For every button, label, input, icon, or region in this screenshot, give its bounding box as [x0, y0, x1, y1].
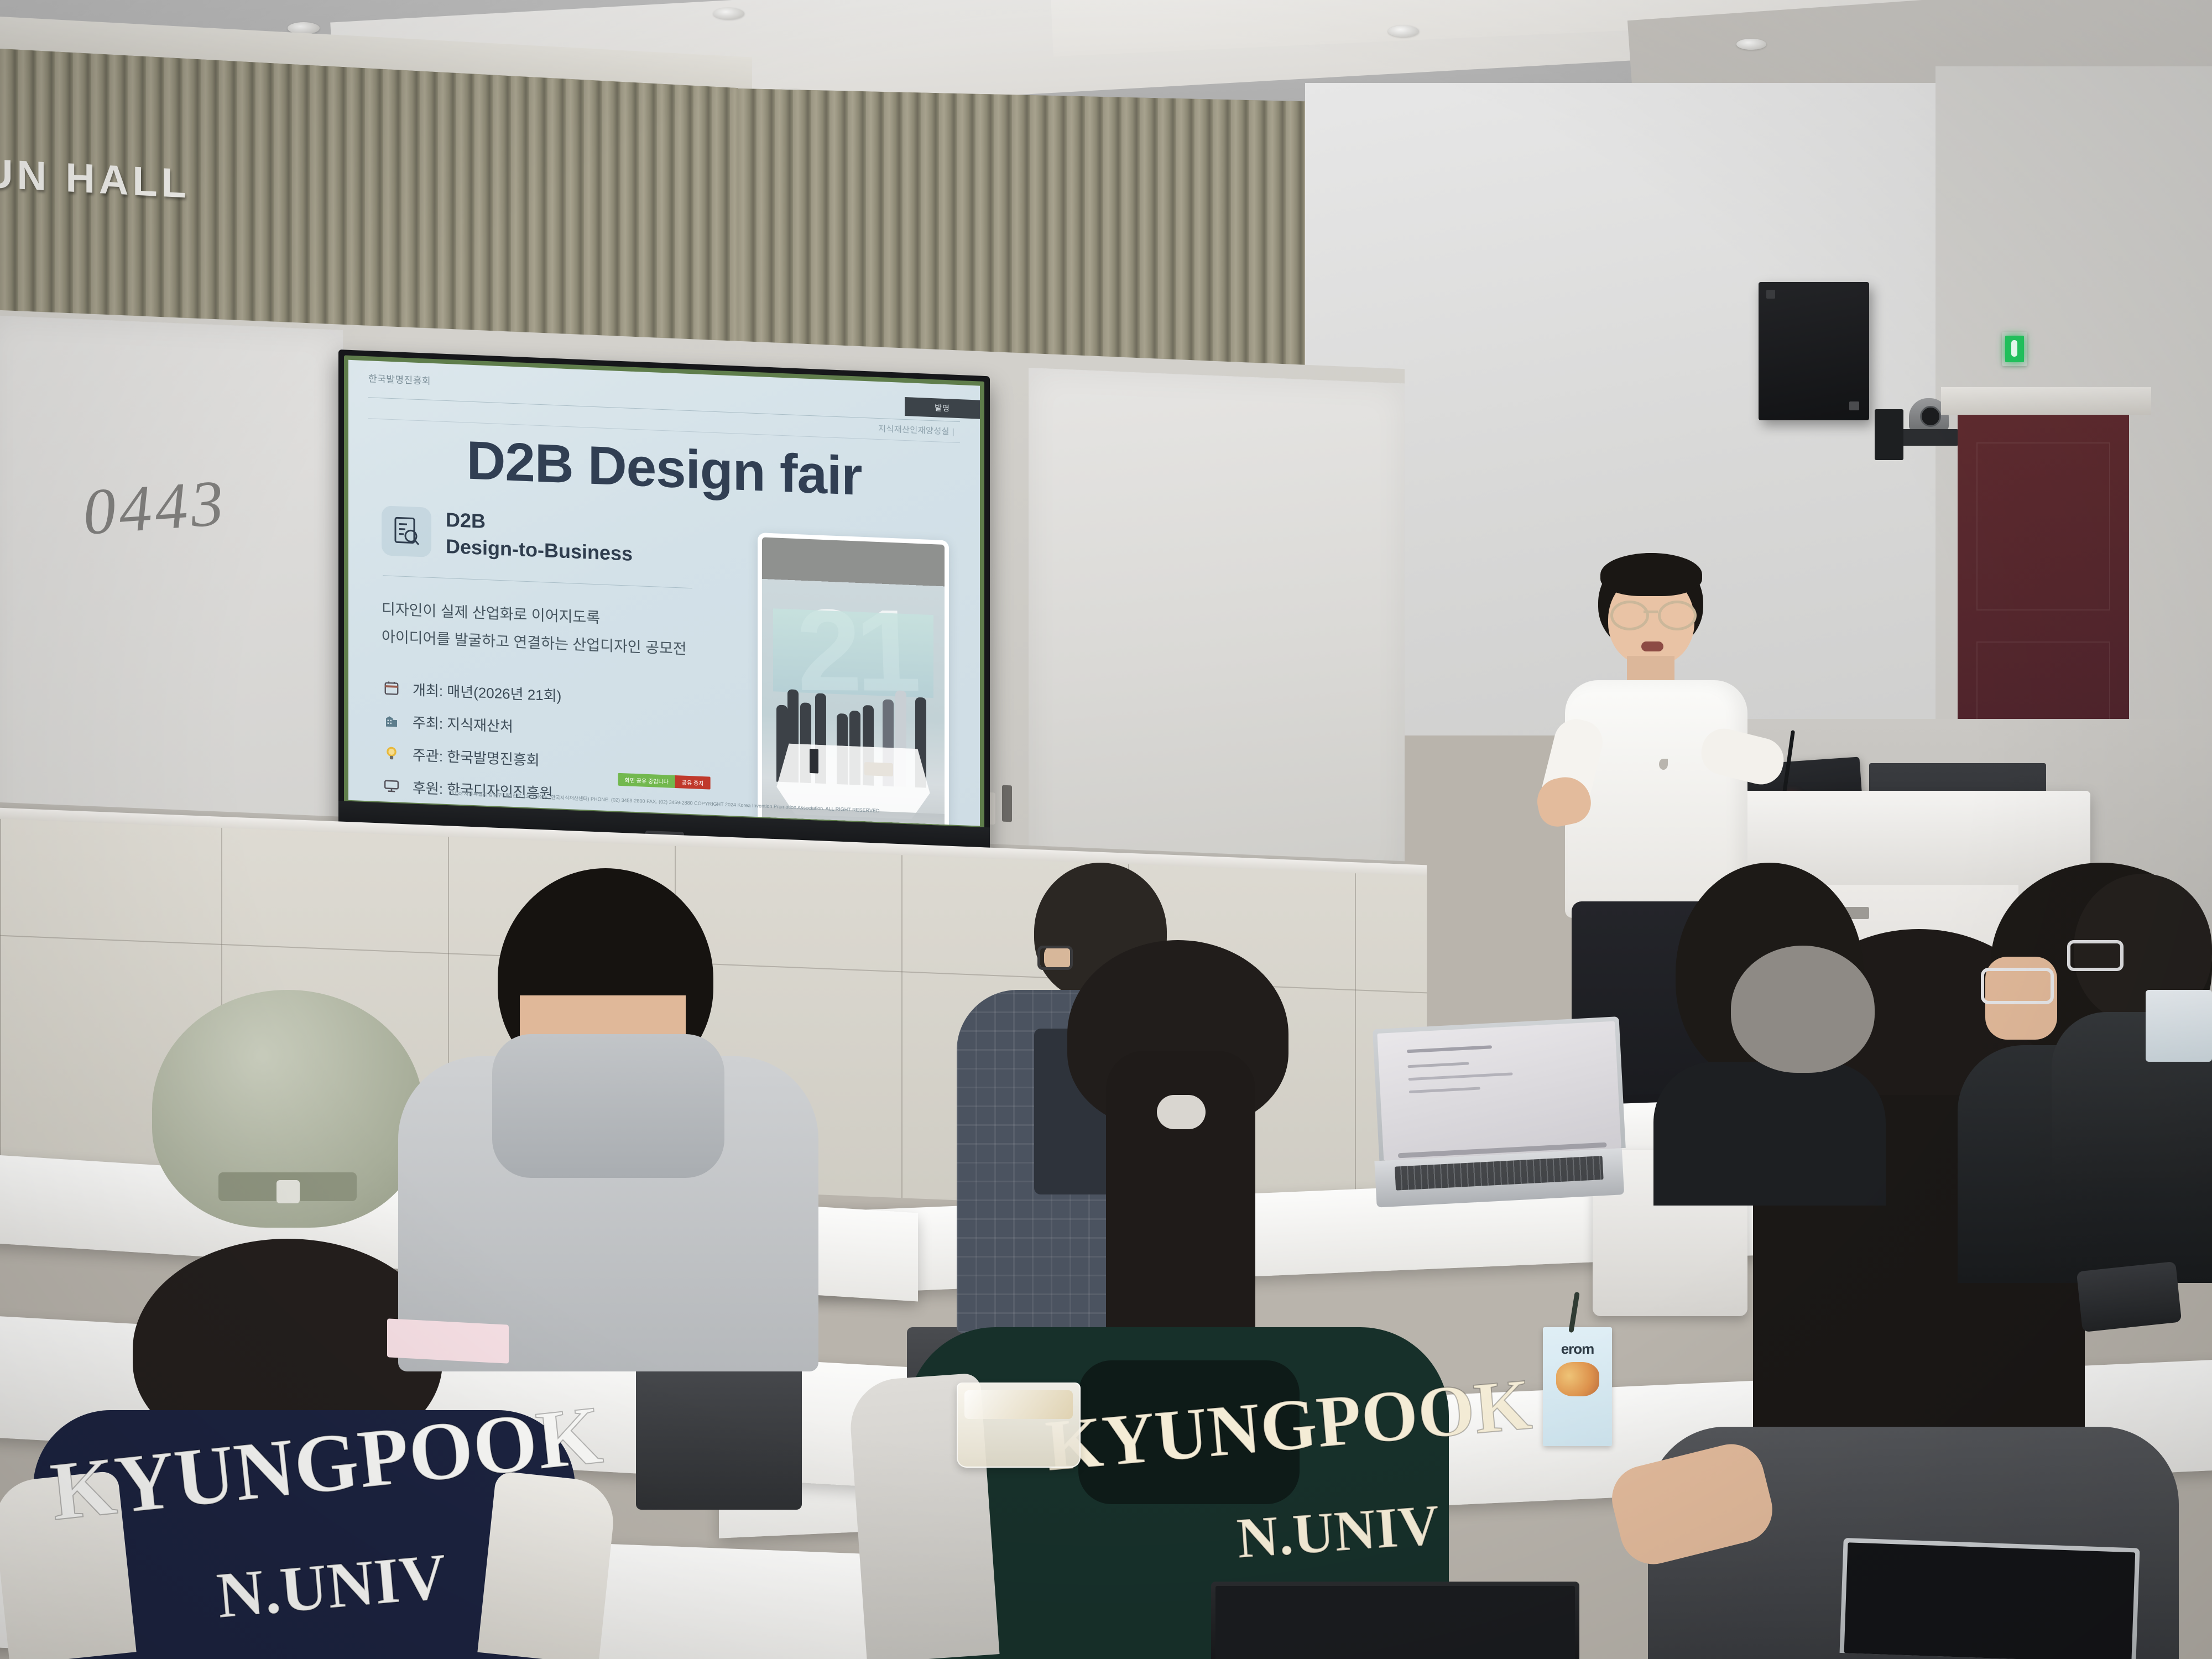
cap-buckle [276, 1180, 300, 1203]
slide-bullet-text: 주관: 한국발명진흥회 [413, 744, 540, 769]
slide-bullet-item: 주관: 한국발명진흥회 [382, 743, 713, 777]
marker-pen[interactable] [1002, 785, 1012, 822]
phone[interactable] [2077, 1261, 2182, 1332]
student-grey-hoodie [420, 868, 796, 1366]
laptop-keyboard[interactable] [1395, 1156, 1603, 1191]
open-laptop[interactable] [1211, 1582, 1571, 1659]
slide-corner-tag-text: 발명 [905, 397, 980, 419]
downlight-icon [1736, 39, 1766, 50]
juice-fruit-graphic [1556, 1362, 1599, 1396]
calendar-icon [382, 678, 401, 698]
slide-title: D2B Design fair [348, 424, 980, 513]
juice-carton[interactable]: erom [1543, 1327, 1612, 1446]
laptop-screen [1215, 1586, 1575, 1659]
hood [492, 1034, 724, 1178]
slide-corner-tag: 발명 [905, 397, 980, 419]
glasses-icon [2067, 940, 2124, 971]
door-header-trim [1941, 387, 2151, 415]
stop-share-button[interactable]: 공유 중지 [675, 775, 711, 790]
whiteboard-note: 0443 [81, 465, 229, 550]
building-icon [382, 711, 401, 731]
juice-brand-label: erom [1543, 1327, 1612, 1358]
slide-canvas: 한국발명진흥회 발명 지식재산인재양성실 | D2B Design fair [348, 360, 980, 826]
slide-rule-top [368, 397, 960, 422]
slide-bullet-item: 주최: 지식재산처 [382, 710, 713, 744]
screen-share-status-text: 화면 공유 중입니다 [618, 773, 675, 788]
document-search-icon [382, 505, 431, 557]
open-laptop[interactable] [1839, 1538, 2131, 1659]
takeout-container[interactable] [957, 1383, 1081, 1468]
slide-divider [383, 575, 692, 588]
shirt-logo [1659, 759, 1668, 770]
downlight-icon [1388, 25, 1419, 37]
presentation-display[interactable]: 한국발명진흥회 발명 지식재산인재양성실 | D2B Design fair [338, 349, 990, 874]
slide-header-sub: 지식재산인재양성실 | [878, 422, 954, 437]
tissue-box [2146, 990, 2212, 1062]
lightbulb-icon [382, 743, 401, 764]
attendee-grey-head [1731, 946, 1875, 1073]
slide-left-column: D2B Design-to-Business 디자인이 실제 산업화로 이어지도… [382, 504, 713, 822]
slide-bullet-item: 개최: 매년(2026년 21회) [382, 677, 713, 712]
whiteboard-panel-left [0, 315, 343, 867]
wood-slat-wall-right [738, 88, 1308, 378]
laptop-screen [1844, 1542, 2136, 1659]
slide-brand-label: 한국발명진흥회 [368, 371, 431, 387]
lecture-hall-photo: UN HALL 0443 한국발명진흥회 발명 지식재산인재양성실 | [0, 0, 2212, 1659]
slide-bullet-text: 주최: 지식재산처 [413, 711, 513, 735]
camera-mount-bracket [1875, 409, 1903, 460]
glasses-icon [1610, 601, 1693, 625]
open-laptop[interactable] [1373, 1017, 1619, 1206]
whiteboard-panel-right [1029, 368, 1405, 887]
hair-tie [1157, 1095, 1206, 1129]
slide-photo-card: 21 [758, 533, 949, 826]
slide-photo: 21 [762, 537, 945, 826]
wall-speaker [1759, 282, 1869, 420]
slide-bullet-text: 개최: 매년(2026년 21회) [413, 679, 561, 705]
downlight-icon [713, 8, 744, 19]
emergency-exit-sign [2002, 332, 2027, 366]
laptop-screen [1377, 1021, 1621, 1161]
paper-sheet[interactable] [387, 1318, 509, 1364]
